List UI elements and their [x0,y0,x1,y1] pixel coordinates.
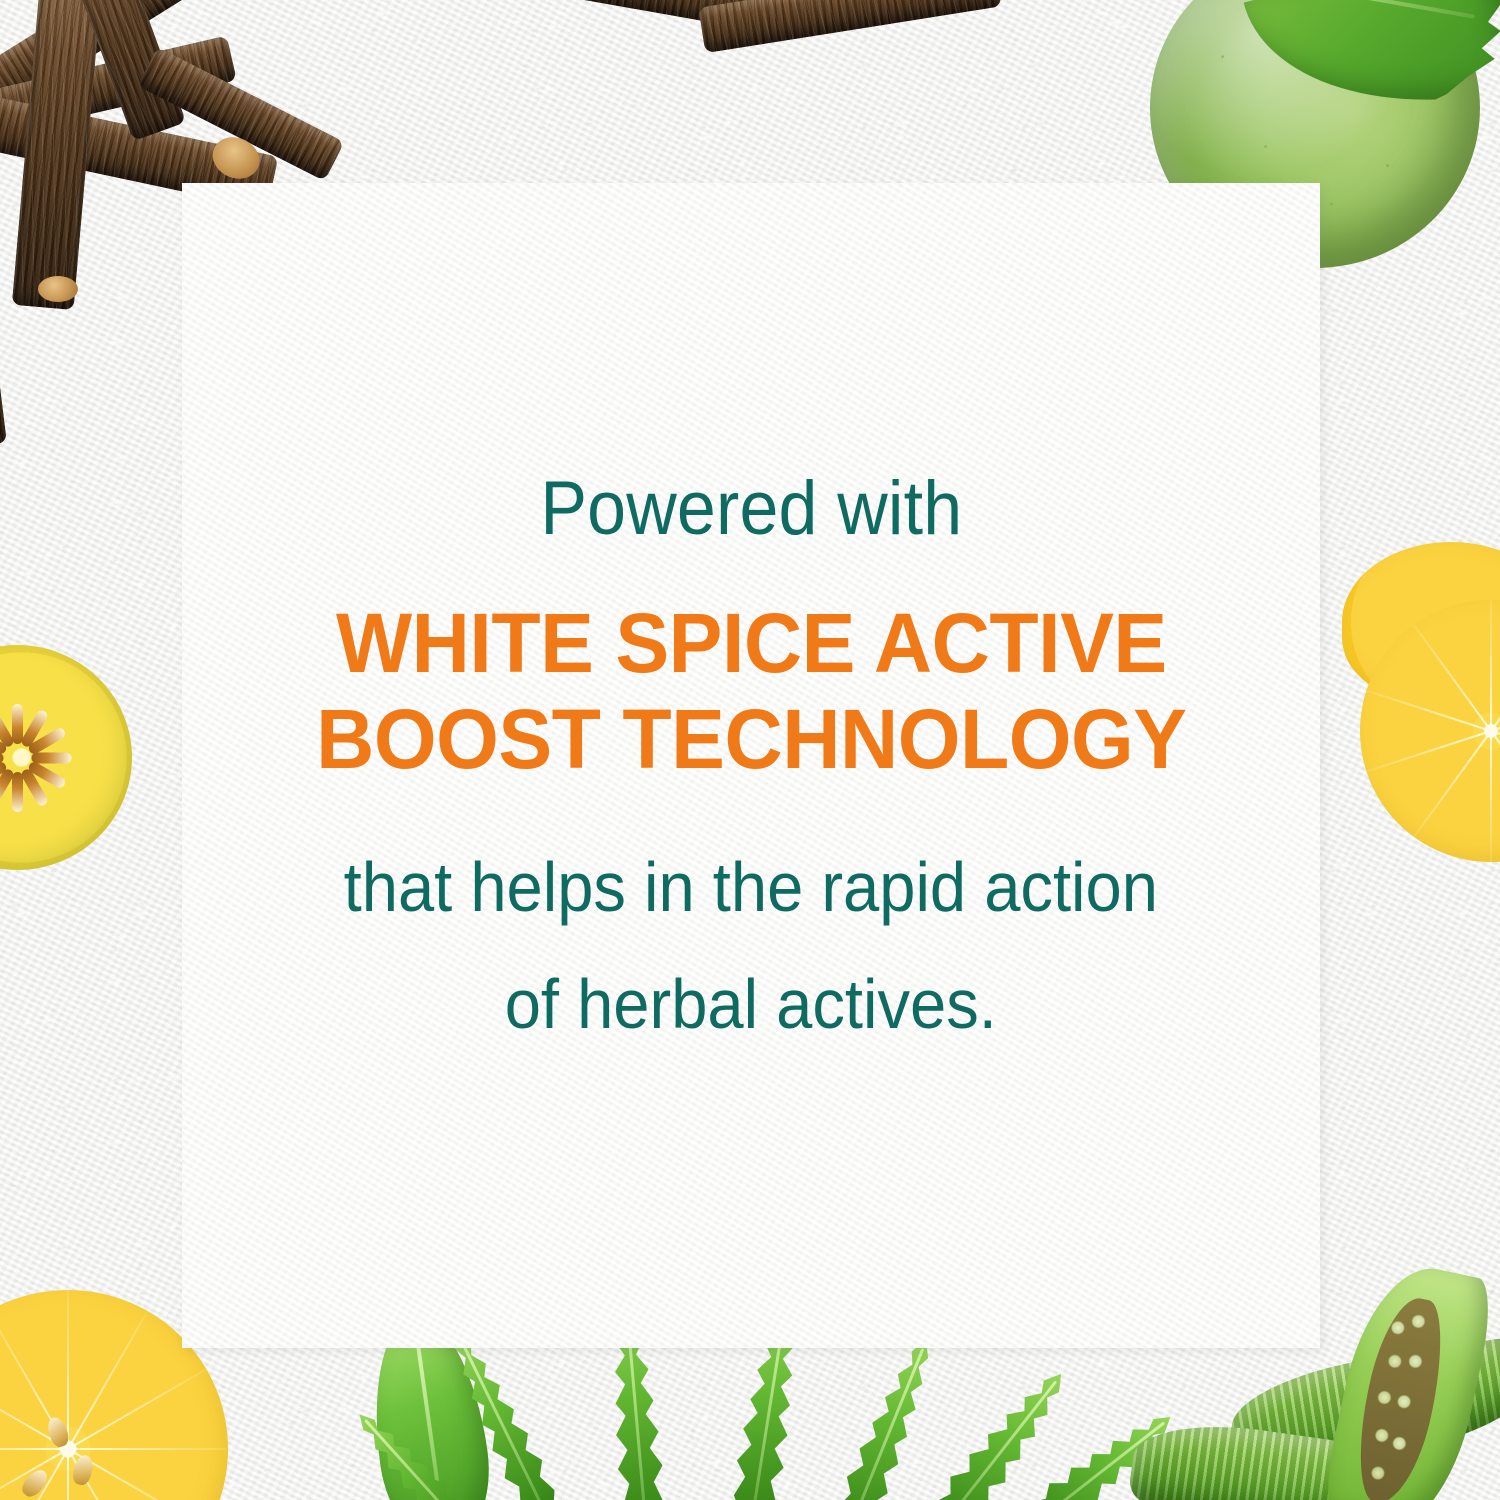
headline-line-1: WHITE SPICE ACTIVE [316,596,1186,692]
fruit-seed-ring [0,645,132,870]
cardamom-seeds [1346,1292,1455,1500]
eyebrow-text: Powered with [540,469,962,550]
headline: WHITE SPICE ACTIVE BOOST TECHNOLOGY [316,596,1186,788]
promo-banner: Powered with WHITE SPICE ACTIVE BOOST TE… [0,0,1500,1500]
headline-line-2: BOOST TECHNOLOGY [316,692,1186,788]
sliced-yellow-fruit-icon [0,645,132,870]
card-inner: Powered with WHITE SPICE ACTIVE BOOST TE… [182,183,1320,1348]
content-card: Powered with WHITE SPICE ACTIVE BOOST TE… [182,183,1320,1348]
subline: that helps in the rapid action of herbal… [344,829,1158,1061]
subline-line-2: of herbal actives. [344,946,1158,1062]
licorice-stick-top-right-icon [698,0,1002,53]
subline-line-1: that helps in the rapid action [344,829,1158,945]
